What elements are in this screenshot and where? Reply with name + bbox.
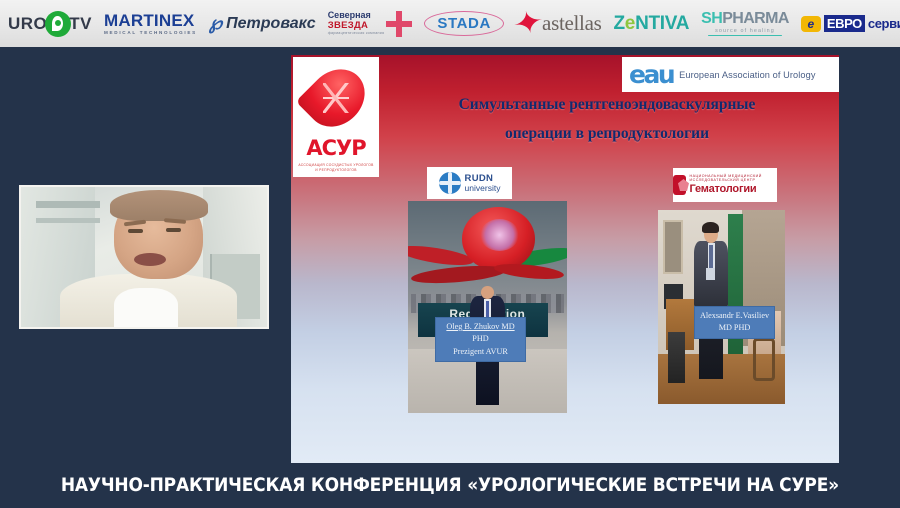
photo-right-person-badge: [706, 268, 715, 280]
photo-right-person-tie: [709, 245, 713, 268]
hematology-logo-line2: Гематологии: [690, 183, 777, 195]
speaker-hair: [110, 190, 208, 221]
severnaya-zvezda-tagline: фармацевтическая компания: [328, 32, 385, 36]
acur-subtitle: АССОЦИАЦИЯ СОСУДИСТЫХ УРОЛОГОВ И РЕПРОДУ…: [298, 163, 374, 173]
sponsor-logo-bar: URO TV MARTINEX MEDICAL TECHNOLOGIES ℘ П…: [0, 0, 900, 47]
uro-tv-logo: URO TV: [8, 11, 92, 37]
caption-right: Alexsandr E.Vasiliev MD PHD: [694, 306, 775, 339]
zentiva-logo-z: Z: [613, 13, 624, 35]
speaker-eye-left: [128, 229, 143, 233]
caption-left-role: Prezigent AVUR: [440, 346, 521, 358]
sh-pharma-pharma: PHARMA: [722, 10, 789, 27]
stada-logo: STADA: [424, 11, 504, 36]
sh-pharma-sh: SH: [701, 10, 722, 27]
photo-right-person-hair: [702, 222, 719, 234]
conference-banner-text: НАУЧНО-ПРАКТИЧЕСКАЯ КОНФЕРЕНЦИЯ «УРОЛОГИ…: [61, 475, 839, 496]
martinex-logo-name: MARTINEX: [104, 12, 194, 29]
conference-banner: НАУЧНО-ПРАКТИЧЕСКАЯ КОНФЕРЕНЦИЯ «УРОЛОГИ…: [0, 463, 900, 508]
speaker-video-feed[interactable]: [19, 185, 269, 329]
caption-left: Oleg B. Zhukov MD PHD Prezigent AVUR: [435, 317, 526, 362]
webcam-shelf-second: [36, 218, 100, 224]
evroservis-evro: ЕВРО: [824, 15, 865, 32]
petrovax-monogram-icon: ℘: [209, 12, 222, 35]
zentiva-logo-e: e: [625, 13, 635, 35]
sh-pharma-logo: SHPHARMA source of healing: [701, 11, 789, 37]
martinex-logo-tagline: MEDICAL TECHNOLOGIES: [104, 31, 197, 36]
hematology-center-logo: НАЦИОНАЛЬНЫЙ МЕДИЦИНСКИЙ ИССЛЕДОВАТЕЛЬСК…: [673, 168, 777, 202]
zentiva-logo: ZeNTIVA: [613, 13, 689, 35]
acur-association-logo: АСУР АССОЦИАЦИЯ СОСУДИСТЫХ УРОЛОГОВ И РЕ…: [293, 57, 379, 177]
evroservis-logo: е ЕВРОсервис: [801, 15, 900, 32]
evroservis-servis: сервис: [868, 16, 900, 31]
photo-right-chair: [753, 338, 775, 381]
severnaya-zvezda-line2: ЗВЕЗДА: [328, 21, 385, 31]
uro-tv-logo-text-right: TV: [69, 14, 92, 34]
petrovax-logo-name: Петровакс: [226, 15, 316, 33]
sh-pharma-tagline: source of healing: [715, 29, 775, 34]
speaker-shirt: [114, 288, 178, 329]
hematology-logo-line1: НАЦИОНАЛЬНЫЙ МЕДИЦИНСКИЙ ИССЛЕДОВАТЕЛЬСК…: [690, 175, 777, 183]
acur-wordmark: АСУР: [306, 138, 365, 159]
uro-tv-logo-text-left: URO: [8, 14, 47, 34]
presentation-slide[interactable]: АСУР АССОЦИАЦИЯ СОСУДИСТЫХ УРОЛОГОВ И РЕ…: [291, 55, 839, 463]
slide-title-line-2: операции в репродуктологии: [387, 120, 827, 149]
speaker-eye-right: [166, 228, 181, 232]
severnaya-zvezda-logo: Северная ЗВЕЗДА фармацевтическая компани…: [328, 11, 413, 37]
zentiva-logo-rest: NTIVA: [635, 13, 689, 35]
rudn-university-logo: RUDN university: [427, 167, 512, 199]
caption-left-degree: PHD: [440, 333, 521, 345]
petrovax-logo: ℘ Петровакс: [209, 12, 316, 35]
caption-right-name: Alexsandr E.Vasiliev: [699, 310, 770, 322]
slide-title-line-1: Симультанные рентгеноэндоваскулярные: [387, 91, 827, 120]
globe-icon: [439, 172, 461, 194]
hematology-mark-icon: [673, 175, 686, 195]
photo-right-loudspeaker: [668, 332, 685, 382]
medical-cross-icon: [386, 11, 412, 37]
martinex-logo: MARTINEX MEDICAL TECHNOLOGIES: [104, 12, 197, 36]
photo-exhibition-hall: Registration: [408, 201, 567, 413]
photo-right-wall-picture: [663, 220, 683, 274]
speaker-mouth: [134, 253, 166, 266]
slide-title: Симультанные рентгеноэндоваскулярные опе…: [387, 91, 827, 148]
astellas-logo-name: astellas: [542, 11, 601, 36]
astellas-logo: ✦ astellas: [516, 11, 602, 36]
broadcast-stage: URO TV MARTINEX MEDICAL TECHNOLOGIES ℘ П…: [0, 0, 900, 508]
eau-logo-text: European Association of Urology: [679, 70, 815, 80]
eau-wordmark-icon: eau: [629, 62, 673, 87]
photo-left-person-tie: [486, 301, 489, 318]
uro-tv-leaf-icon: [45, 11, 71, 37]
acur-drop-icon: [296, 58, 377, 139]
caption-right-degree: MD PHD: [699, 322, 770, 334]
rudn-logo-line2: university: [465, 184, 501, 193]
webcam-shelf: [36, 201, 100, 208]
caption-left-name: Oleg B. Zhukov MD: [440, 321, 521, 333]
photo-left-heart-balloon: [462, 207, 535, 271]
evroservis-badge-icon: е: [801, 16, 821, 32]
photo-left-person-head: [481, 286, 494, 299]
eau-logo: eau European Association of Urology: [622, 57, 839, 92]
astellas-star-icon: ✦: [511, 10, 546, 37]
sh-pharma-underline: [708, 35, 782, 36]
